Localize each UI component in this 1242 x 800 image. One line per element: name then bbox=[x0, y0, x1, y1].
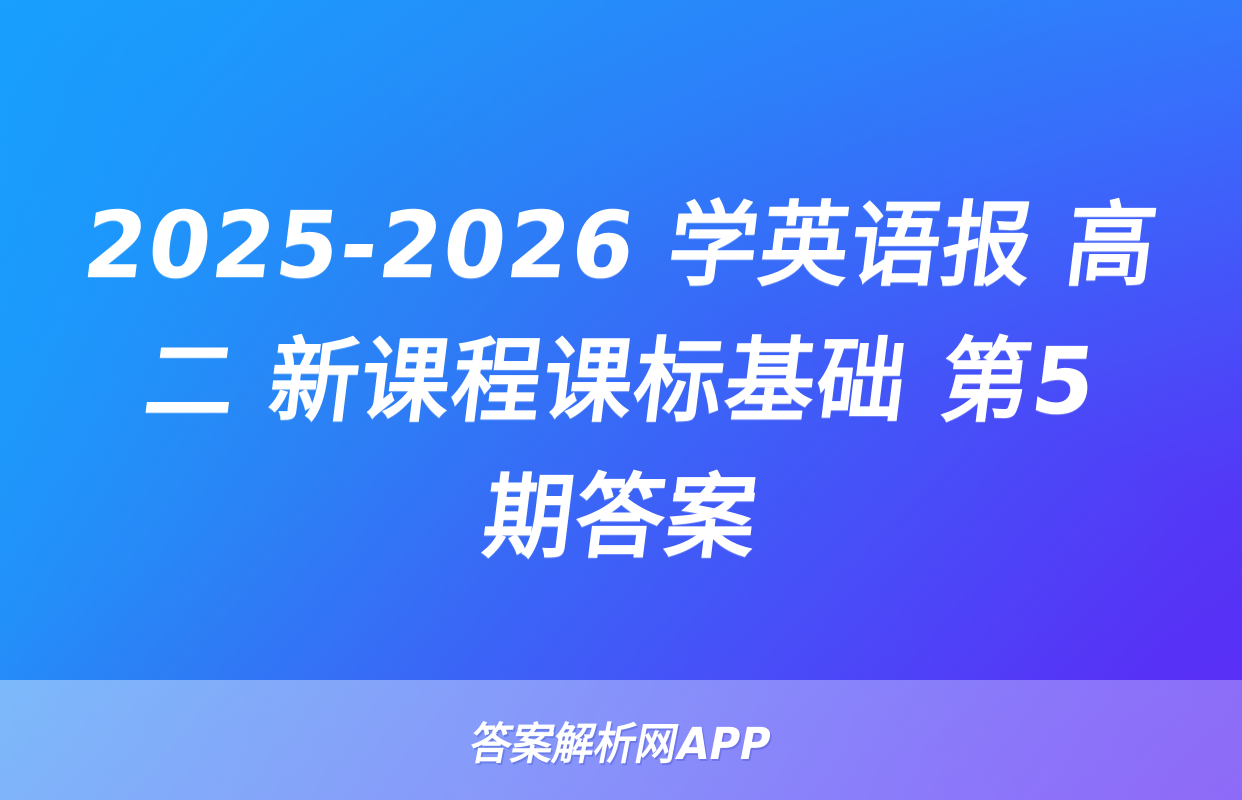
title-line-2: 二 新课程课标基础 第5 bbox=[137, 314, 1104, 450]
banner-title: 2025-2026 学英语报 高 二 新课程课标基础 第5 期答案 bbox=[0, 178, 1242, 638]
banner-page: 2025-2026 学英语报 高 二 新课程课标基础 第5 期答案 答案解析网A… bbox=[0, 0, 1242, 800]
title-line-3: 期答案 bbox=[476, 450, 766, 586]
footer-brand-text: 答案解析网APP bbox=[465, 708, 777, 772]
title-line-1: 2025-2026 学英语报 高 bbox=[76, 178, 1166, 314]
footer-brand-band: 答案解析网APP bbox=[0, 680, 1242, 800]
